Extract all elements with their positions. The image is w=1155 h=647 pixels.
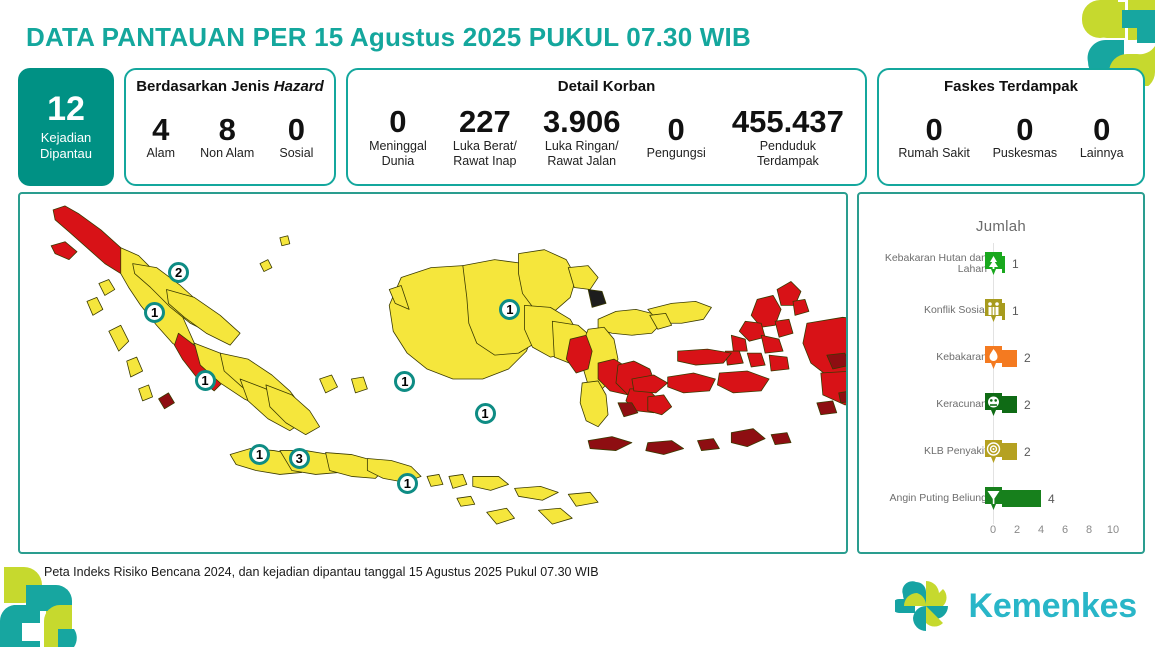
kemenkes-brand: Kemenkes bbox=[895, 579, 1138, 633]
affected-health-facilities-card: Faskes Terdampak 0 Rumah Sakit 0 Puskesm… bbox=[877, 68, 1145, 186]
metric-pengungsi: 0 Pengungsi bbox=[643, 114, 710, 161]
chart-x-tick: 6 bbox=[1062, 524, 1068, 536]
chart-value-label: 4 bbox=[1048, 492, 1055, 506]
metric-puskesmas-label: Puskesmas bbox=[993, 146, 1058, 161]
faskes-metrics: 0 Rumah Sakit 0 Puskesmas 0 Lainnya bbox=[887, 95, 1135, 180]
chart-row[interactable]: Keracunan 2 bbox=[867, 390, 1131, 420]
metric-rumah-sakit-label: Rumah Sakit bbox=[898, 146, 970, 161]
metric-luka-ringan: 3.906 Luka Ringan/ Rawat Jalan bbox=[539, 106, 625, 168]
chart-bar-wrap: 1 bbox=[993, 296, 1131, 326]
metric-alam-value: 4 bbox=[147, 114, 175, 146]
poisoning-pin-icon bbox=[983, 392, 1004, 418]
metric-rumah-sakit: 0 Rumah Sakit bbox=[894, 114, 974, 161]
map-marker[interactable]: 2 bbox=[168, 262, 189, 283]
metric-non-alam-label: Non Alam bbox=[200, 146, 254, 161]
chart-bar bbox=[1002, 490, 1041, 507]
chart-category-label: KLB Penyakit bbox=[867, 446, 993, 458]
kemenkes-wordmark: Kemenkes bbox=[969, 587, 1138, 626]
metric-alam-label: Alam bbox=[147, 146, 175, 161]
chart-row[interactable]: Angin Puting Beliung 4 bbox=[867, 484, 1131, 514]
chart-row[interactable]: KLB Penyakit 2 bbox=[867, 437, 1131, 467]
header: DATA PANTAUAN PER 15 Agustus 2025 PUKUL … bbox=[26, 22, 926, 58]
chart-x-tick: 2 bbox=[1014, 524, 1020, 536]
metric-pengungsi-value: 0 bbox=[647, 114, 706, 146]
incident-type-bar-chart-panel: Jumlah Kebakaran Hutan dan Lahan 1 bbox=[857, 192, 1145, 554]
kpi-strip: 12 Kejadian Dipantau Berdasarkan Jenis H… bbox=[18, 68, 1145, 186]
metric-puskesmas-value: 0 bbox=[993, 114, 1058, 146]
chart-x-tick: 0 bbox=[990, 524, 996, 536]
chart-bar-rows: Kebakaran Hutan dan Lahan 1 Konflik Sosi… bbox=[867, 241, 1131, 522]
chart-bar-wrap: 1 bbox=[993, 249, 1131, 279]
chart-row[interactable]: Kebakaran 2 bbox=[867, 343, 1131, 373]
chart-bar bbox=[1002, 443, 1017, 460]
dashboard-body: 2 1 1 1 1 3 1 1 1 Jumlah Kebakaran Hutan… bbox=[18, 192, 1145, 554]
chart-bar bbox=[1002, 350, 1017, 367]
chart-title: Jumlah bbox=[867, 218, 1135, 235]
total-incidents-label-line2: Dipantau bbox=[40, 146, 92, 162]
chart-category-label: Keracunan bbox=[867, 399, 993, 411]
metric-non-alam-value: 8 bbox=[200, 114, 254, 146]
chart-value-label: 2 bbox=[1024, 398, 1031, 412]
chart-row[interactable]: Konflik Sosial 1 bbox=[867, 296, 1131, 326]
chart-category-label: Angin Puting Beliung bbox=[867, 493, 993, 505]
metric-rumah-sakit-value: 0 bbox=[898, 114, 970, 146]
chart-value-label: 1 bbox=[1012, 304, 1019, 318]
fire-pin-icon bbox=[983, 345, 1004, 371]
social-conflict-pin-icon bbox=[983, 298, 1004, 324]
footer-note: Peta Indeks Risiko Bencana 2024, dan kej… bbox=[44, 565, 599, 579]
indonesia-risk-map-panel[interactable]: 2 1 1 1 1 3 1 1 1 bbox=[18, 192, 848, 554]
metric-luka-ringan-label: Luka Ringan/ Rawat Jalan bbox=[543, 139, 621, 169]
chart-x-tick: 8 bbox=[1086, 524, 1092, 536]
chart-bar-wrap: 2 bbox=[993, 343, 1131, 373]
map-marker[interactable]: 1 bbox=[195, 370, 216, 391]
metric-meninggal-dunia-label: Meninggal Dunia bbox=[369, 139, 427, 169]
kemenkes-logo-icon bbox=[895, 579, 957, 633]
metric-luka-berat: 227 Luka Berat/ Rawat Inap bbox=[449, 106, 521, 168]
hazard-card-title: Berdasarkan Jenis Hazard bbox=[134, 78, 326, 95]
metric-penduduk-terdampak-label: Penduduk Terdampak bbox=[732, 139, 844, 169]
metric-luka-berat-label: Luka Berat/ Rawat Inap bbox=[453, 139, 517, 169]
total-incidents-count: 12 bbox=[47, 92, 85, 126]
chart-bar-wrap: 2 bbox=[993, 437, 1131, 467]
metric-lainnya: 0 Lainnya bbox=[1076, 114, 1128, 161]
map-marker[interactable]: 1 bbox=[249, 444, 270, 465]
chart-value-label: 2 bbox=[1024, 445, 1031, 459]
indonesia-map[interactable] bbox=[20, 194, 846, 552]
chart-row[interactable]: Kebakaran Hutan dan Lahan 1 bbox=[867, 249, 1131, 279]
tornado-pin-icon bbox=[983, 486, 1004, 512]
metric-luka-ringan-value: 3.906 bbox=[543, 106, 621, 138]
metric-alam: 4 Alam bbox=[143, 114, 179, 161]
metric-luka-berat-value: 227 bbox=[453, 106, 517, 138]
metric-sosial: 0 Sosial bbox=[275, 114, 317, 161]
chart-x-tick: 4 bbox=[1038, 524, 1044, 536]
metric-sosial-label: Sosial bbox=[279, 146, 313, 161]
map-marker[interactable]: 3 bbox=[289, 448, 310, 469]
hazard-type-card: Berdasarkan Jenis Hazard 4 Alam 8 Non Al… bbox=[124, 68, 336, 186]
metric-meninggal-dunia: 0 Meninggal Dunia bbox=[365, 106, 431, 168]
chart-category-label: Kebakaran bbox=[867, 352, 993, 364]
victim-card-title: Detail Korban bbox=[356, 78, 857, 95]
metric-pengungsi-label: Pengungsi bbox=[647, 146, 706, 161]
victim-metrics: 0 Meninggal Dunia 227 Luka Berat/ Rawat … bbox=[356, 95, 857, 180]
metric-sosial-value: 0 bbox=[279, 114, 313, 146]
chart-plot-area: Kebakaran Hutan dan Lahan 1 Konflik Sosi… bbox=[867, 241, 1135, 546]
metric-penduduk-terdampak-value: 455.437 bbox=[732, 106, 844, 138]
victim-detail-card: Detail Korban 0 Meninggal Dunia 227 Luka… bbox=[346, 68, 867, 186]
faskes-card-title: Faskes Terdampak bbox=[887, 78, 1135, 95]
hazard-card-title-italic: Hazard bbox=[274, 78, 324, 95]
chart-bar-wrap: 2 bbox=[993, 390, 1131, 420]
chart-category-label: Kebakaran Hutan dan Lahan bbox=[867, 253, 993, 277]
chart-bar bbox=[1002, 396, 1017, 413]
disease-outbreak-pin-icon bbox=[983, 439, 1004, 465]
chart-value-label: 1 bbox=[1012, 257, 1019, 271]
total-incidents-label-line1: Kejadian bbox=[41, 130, 92, 146]
map-marker[interactable]: 1 bbox=[475, 403, 496, 424]
metric-non-alam: 8 Non Alam bbox=[196, 114, 258, 161]
metric-penduduk-terdampak: 455.437 Penduduk Terdampak bbox=[728, 106, 848, 168]
hazard-card-title-prefix: Berdasarkan Jenis bbox=[136, 78, 274, 95]
chart-x-axis: 0246810 bbox=[993, 524, 1131, 544]
chart-bar-wrap: 4 bbox=[993, 484, 1131, 514]
chart-category-label: Konflik Sosial bbox=[867, 305, 993, 317]
metric-lainnya-value: 0 bbox=[1080, 114, 1124, 146]
metric-puskesmas: 0 Puskesmas bbox=[989, 114, 1062, 161]
metric-meninggal-dunia-value: 0 bbox=[369, 106, 427, 138]
chart-value-label: 2 bbox=[1024, 351, 1031, 365]
total-incidents-card: 12 Kejadian Dipantau bbox=[18, 68, 114, 186]
map-marker[interactable]: 1 bbox=[397, 473, 418, 494]
forest-fire-pin-icon bbox=[983, 251, 1004, 277]
metric-lainnya-label: Lainnya bbox=[1080, 146, 1124, 161]
chart-x-tick: 10 bbox=[1107, 524, 1119, 536]
page-title: DATA PANTAUAN PER 15 Agustus 2025 PUKUL … bbox=[26, 22, 926, 53]
hazard-metrics: 4 Alam 8 Non Alam 0 Sosial bbox=[134, 95, 326, 180]
